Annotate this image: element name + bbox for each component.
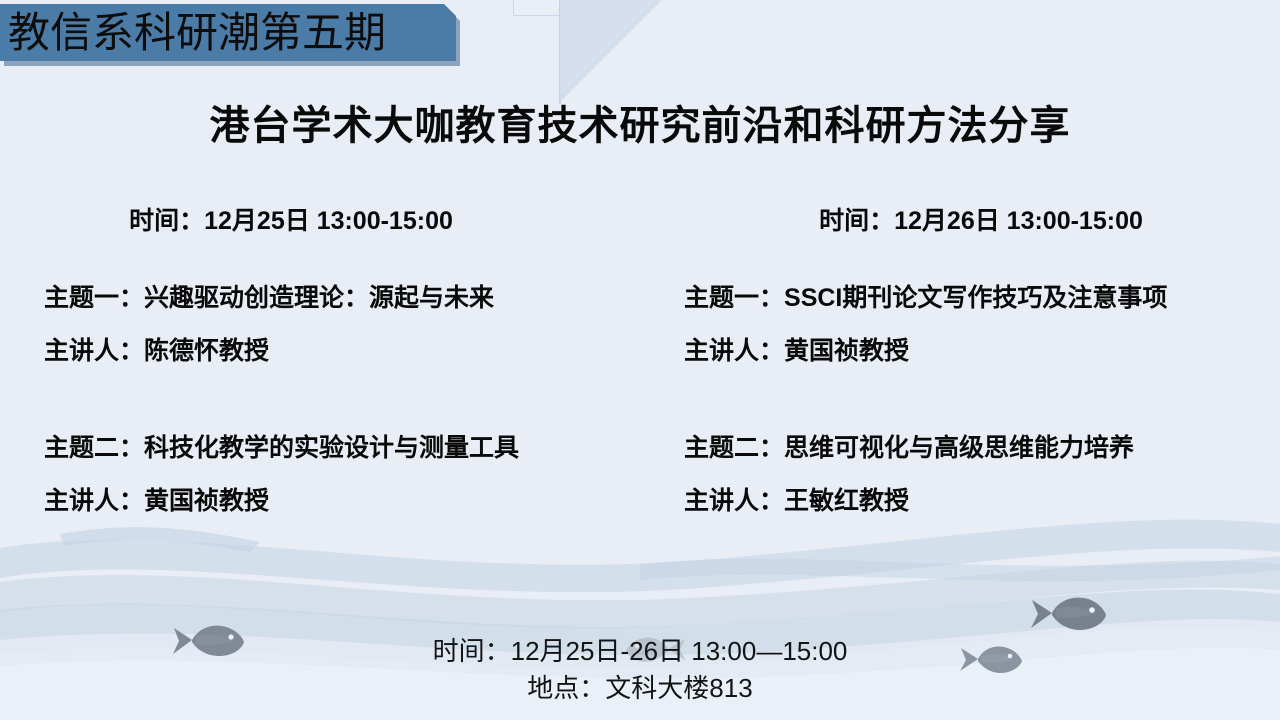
series-banner-label: 教信系科研潮第五期 xyxy=(8,12,386,54)
session-time-day1: 时间：12月25日 13:00-15:00 xyxy=(0,201,640,237)
speaker-label: 主讲人： xyxy=(44,487,144,515)
topic-title: 科技化教学的实验设计与测量工具 xyxy=(144,434,519,462)
topic-title: 兴趣驱动创造理论：源起与未来 xyxy=(144,284,494,312)
footer-venue-line: 地点：文科大楼813 xyxy=(0,670,1280,707)
speaker-name: 王敏红教授 xyxy=(784,487,909,515)
speaker-label: 主讲人： xyxy=(44,337,144,365)
topic-title: 思维可视化与高级思维能力培养 xyxy=(784,434,1134,462)
topic-title-line: 主题一：SSCI期刊论文写作技巧及注意事项 xyxy=(684,272,1167,325)
session-time-day2: 时间：12月26日 13:00-15:00 xyxy=(640,201,1280,237)
series-banner: 教信系科研潮第五期 xyxy=(0,4,456,61)
topic-label: 主题一： xyxy=(44,284,144,312)
topic-block: 主题一：SSCI期刊论文写作技巧及注意事项 主讲人：黄国祯教授 xyxy=(684,272,1167,378)
topic-block: 主题二：思维可视化与高级思维能力培养 主讲人：王敏红教授 xyxy=(684,422,1134,528)
speaker-label: 主讲人： xyxy=(684,487,784,515)
topic-title: SSCI期刊论文写作技巧及注意事项 xyxy=(784,284,1167,312)
topic-title-line: 主题一：兴趣驱动创造理论：源起与未来 xyxy=(44,272,494,325)
speaker-name: 陈德怀教授 xyxy=(144,337,269,365)
speaker-line: 主讲人：王敏红教授 xyxy=(684,475,1134,528)
session-column-day2: 时间：12月26日 13:00-15:00 主题一：SSCI期刊论文写作技巧及注… xyxy=(640,190,1280,550)
speaker-line: 主讲人：黄国祯教授 xyxy=(44,475,519,528)
speaker-line: 主讲人：陈德怀教授 xyxy=(44,325,494,378)
fish-icon xyxy=(1028,590,1112,636)
topic-label: 主题一： xyxy=(684,284,784,312)
speaker-name: 黄国祯教授 xyxy=(784,337,909,365)
speaker-line: 主讲人：黄国祯教授 xyxy=(684,325,1167,378)
topic-label: 主题二： xyxy=(44,434,144,462)
footer-time-line: 时间：12月25日-26日 13:00—15:00 xyxy=(0,633,1280,670)
speaker-name: 黄国祯教授 xyxy=(144,487,269,515)
corner-ribbon-edge xyxy=(559,0,561,104)
topic-title-line: 主题二：思维可视化与高级思维能力培养 xyxy=(684,422,1134,475)
corner-ribbon-triangle xyxy=(560,0,664,102)
corner-outline-box xyxy=(513,0,603,16)
speaker-label: 主讲人： xyxy=(684,337,784,365)
sessions-area: 时间：12月25日 13:00-15:00 主题一：兴趣驱动创造理论：源起与未来… xyxy=(0,190,1280,550)
topic-block: 主题二：科技化教学的实验设计与测量工具 主讲人：黄国祯教授 xyxy=(44,422,519,528)
topic-block: 主题一：兴趣驱动创造理论：源起与未来 主讲人：陈德怀教授 xyxy=(44,272,494,378)
footer-info: 时间：12月25日-26日 13:00—15:00 地点：文科大楼813 xyxy=(0,633,1280,707)
session-column-day1: 时间：12月25日 13:00-15:00 主题一：兴趣驱动创造理论：源起与未来… xyxy=(0,190,640,550)
page-title: 港台学术大咖教育技术研究前沿和科研方法分享 xyxy=(0,93,1280,151)
topic-title-line: 主题二：科技化教学的实验设计与测量工具 xyxy=(44,422,519,475)
slide-canvas: 教信系科研潮第五期 港台学术大咖教育技术研究前沿和科研方法分享 时间：12月25… xyxy=(0,0,1280,720)
topic-label: 主题二： xyxy=(684,434,784,462)
